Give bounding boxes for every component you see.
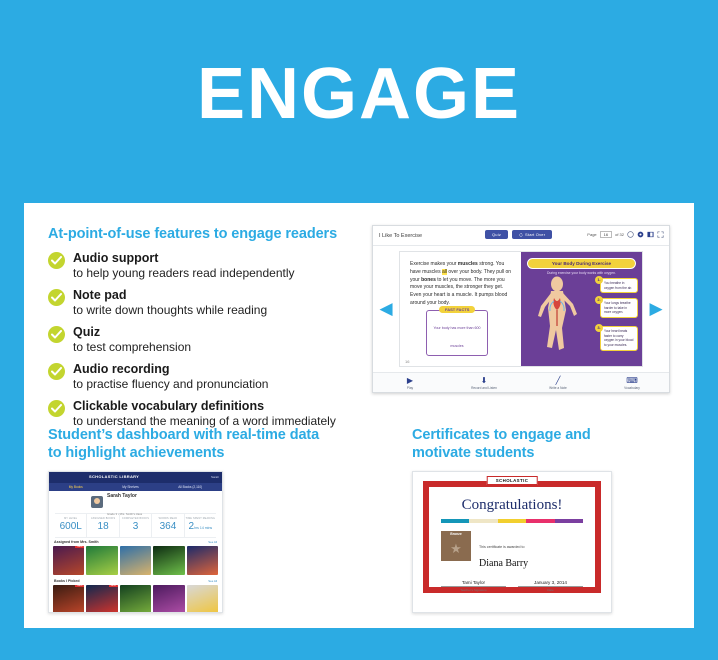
callout-text: Your heart beats faster to carry oxygen … xyxy=(604,329,633,347)
shelf-title: Books I Picked xyxy=(54,579,208,583)
book-row: NEW xyxy=(49,546,222,577)
shelf-header: Books I PickedSee All xyxy=(49,577,222,585)
hero-banner: ENGAGE xyxy=(0,58,718,130)
feature-title: Quiz xyxy=(73,324,191,340)
book-cover[interactable]: NEW xyxy=(53,546,84,575)
color-bar xyxy=(469,519,497,523)
play-icon: ▶ xyxy=(373,376,447,385)
book-cover[interactable] xyxy=(86,546,117,575)
ereader-screenshot[interactable]: I Like To Exercise Quiz Start Over Page … xyxy=(372,225,670,393)
shelf-header: Assigned from Mrs. SmithSee All xyxy=(49,538,222,546)
callout-text: You breathe in oxygen from the air. xyxy=(604,281,632,290)
features-section: At-point-of-use features to engage reade… xyxy=(48,225,388,434)
check-circle-icon xyxy=(48,363,65,380)
book-cover[interactable]: NEW xyxy=(53,585,84,613)
dashboard-heading: Student’s dashboard with real-time data … xyxy=(48,426,368,469)
stat-cell: WORDS READ364 xyxy=(152,514,184,537)
stat-value: 364 xyxy=(152,520,183,535)
bronze-badge: Bronze ★ xyxy=(441,531,471,561)
book-paragraph: Exercise makes your muscles strong. You … xyxy=(410,261,513,308)
book-row: NEWNEW xyxy=(49,585,222,613)
dashboard-navbar: SCHOLASTIC LIBRARY Sarah xyxy=(49,472,222,483)
fast-facts-text: Your body has more than 600 muscles xyxy=(433,326,480,348)
content-card: At-point-of-use features to engage reade… xyxy=(24,203,694,628)
play-tool[interactable]: ▶Play xyxy=(373,376,447,390)
callout-text: Your lungs breathe harder to take in mor… xyxy=(604,301,631,314)
feature-title: Note pad xyxy=(73,287,267,303)
pencil-tool[interactable]: ╱Write a Note xyxy=(521,376,595,390)
dashboard-tab[interactable]: My Books xyxy=(69,485,83,489)
ereader-spread: ◀ Exercise makes your muscles strong. Yo… xyxy=(373,246,669,372)
diagram-callout: 3. Your heart beats faster to carry oxyg… xyxy=(600,326,638,351)
start-over-button[interactable]: Start Over xyxy=(512,230,552,239)
signature-row: Tami Taylor Teacher’s Signature January … xyxy=(441,580,583,592)
book-cover[interactable] xyxy=(120,585,151,613)
refresh-icon xyxy=(519,233,523,237)
certificate-body: Bronze ★ This certificate is awarded to … xyxy=(441,531,583,571)
features-heading: At-point-of-use features to engage reade… xyxy=(48,225,388,243)
diagram-callout: 1. You breathe in oxygen from the air. xyxy=(600,278,638,293)
scholastic-logo: SCHOLASTIC LIBRARY xyxy=(89,474,139,479)
microphone-icon: ⬇ xyxy=(447,376,521,385)
feature-subtitle: to help young readers read independently xyxy=(73,266,295,282)
diagram-title: Your Body During Exercise xyxy=(527,258,636,269)
microphone-tool[interactable]: ⬇Record and Listen xyxy=(447,376,521,390)
certificate-heading-line1: Certificates to engage and xyxy=(412,427,591,443)
quiz-button[interactable]: Quiz xyxy=(485,230,508,239)
check-circle-icon xyxy=(48,252,65,269)
two-page-view-icon[interactable] xyxy=(647,231,654,238)
stat-value: 18 xyxy=(87,520,118,535)
ereader-book-title: I Like To Exercise xyxy=(379,233,422,239)
color-bar xyxy=(441,519,469,523)
check-circle-icon xyxy=(48,326,65,343)
feature-title: Clickable vocabulary definitions xyxy=(73,398,336,414)
stat-cell: MY LEVEL600L xyxy=(55,514,87,537)
certificate-frame: SCHOLASTIC Congratulations! Bronze ★ Thi… xyxy=(423,481,601,593)
settings-gear-icon[interactable] xyxy=(637,231,644,238)
tool-label: Play xyxy=(373,386,447,390)
page-title: ENGAGE xyxy=(0,58,718,130)
fullscreen-icon[interactable] xyxy=(657,231,664,238)
stat-value: 3 xyxy=(120,520,151,535)
diagram-callout: 2. Your lungs breathe harder to take in … xyxy=(600,298,638,318)
book-cover[interactable] xyxy=(187,546,218,575)
new-ribbon: NEW xyxy=(75,546,84,548)
date-caption: Date xyxy=(518,588,583,592)
ereader-page-controls: Page 16 of 32 xyxy=(587,231,664,238)
dashboard-heading-line1: Student’s dashboard with real-time data xyxy=(48,427,319,443)
book-page-number: 16 xyxy=(405,359,409,364)
contents-icon[interactable] xyxy=(627,231,634,238)
ereader-toolbar: I Like To Exercise Quiz Start Over Page … xyxy=(373,226,669,246)
feature-item: Audio supportto help young readers read … xyxy=(48,250,388,282)
diagram-subtitle: During exercise your body works with oxy… xyxy=(527,271,636,275)
feature-item: Quizto test comprehension xyxy=(48,324,388,356)
see-all-link[interactable]: See All xyxy=(208,540,217,544)
dashboard-heading-line2: to highlight achievements xyxy=(48,445,224,461)
pencil-icon: ╱ xyxy=(521,376,595,385)
stat-cell: ASSIGNED BOOKS18 xyxy=(87,514,119,537)
callout-number: 3. xyxy=(595,324,603,332)
book-cover[interactable] xyxy=(120,546,151,575)
certificate-heading: Certificates to engage and motivate stud… xyxy=(412,426,692,469)
star-icon: ★ xyxy=(450,541,462,557)
book-cover[interactable] xyxy=(187,585,218,613)
prev-page-arrow[interactable]: ◀ xyxy=(373,246,399,372)
badge-label: Bronze xyxy=(441,532,471,536)
engage-slide: ENGAGE At-point-of-use features to engag… xyxy=(0,0,718,660)
stat-cell: TIME SPENT READING2hrs 14 mins xyxy=(185,514,216,537)
vocabulary-tool[interactable]: ⌨Vocabulary xyxy=(595,376,669,390)
callout-number: 1. xyxy=(595,276,603,284)
shelf-title: Assigned from Mrs. Smith xyxy=(54,540,208,544)
ereader-bottom-toolbar: ▶Play⬇Record and Listen╱Write a Note⌨Voc… xyxy=(373,372,669,392)
avatar xyxy=(91,496,103,508)
teacher-name: Tami Taylor xyxy=(441,580,506,587)
scholastic-brand: SCHOLASTIC xyxy=(487,476,538,485)
feature-item: Note padto write down thoughts while rea… xyxy=(48,287,388,319)
feature-item: Audio recordingto practise fluency and p… xyxy=(48,361,388,393)
vocabulary-icon: ⌨ xyxy=(595,376,669,385)
stats-row: MY LEVEL600LASSIGNED BOOKS18COMPLETED BO… xyxy=(55,513,216,538)
book-text-page: Exercise makes your muscles strong. You … xyxy=(400,252,521,366)
human-body-illustration xyxy=(535,276,581,354)
tool-label: Vocabulary xyxy=(595,386,669,390)
stat-unit: hrs 14 mins xyxy=(194,526,212,530)
recipient-name: Diana Barry xyxy=(479,558,528,569)
start-over-label: Start Over xyxy=(525,232,545,237)
shelves: Assigned from Mrs. SmithSee AllNEWBooks … xyxy=(49,538,222,613)
see-all-link[interactable]: See All xyxy=(208,579,217,583)
page-total: of 32 xyxy=(615,232,624,237)
book-cover[interactable]: NEW xyxy=(86,585,117,613)
book-image-page: Your Body During Exercise During exercis… xyxy=(521,252,642,366)
color-bar xyxy=(555,519,583,523)
feature-subtitle: to test comprehension xyxy=(73,340,191,356)
awarded-text: This certificate is awarded to xyxy=(479,545,525,549)
fast-facts-badge: FAST FACTS xyxy=(439,306,475,313)
account-menu[interactable]: Sarah xyxy=(211,475,219,479)
new-ribbon: NEW xyxy=(75,585,84,587)
certificate-screenshot[interactable]: SCHOLASTIC Congratulations! Bronze ★ Thi… xyxy=(412,471,612,613)
tool-label: Record and Listen xyxy=(447,386,521,390)
check-circle-icon xyxy=(48,289,65,306)
color-bar xyxy=(498,519,526,523)
stat-value: 2hrs 14 mins xyxy=(185,520,216,535)
color-bar xyxy=(526,519,554,523)
ereader-action-buttons: Quiz Start Over xyxy=(485,230,552,239)
certificate-date: January 3, 2014 xyxy=(518,580,583,587)
book-cover[interactable] xyxy=(153,585,184,613)
feature-item: Clickable vocabulary definitionsto under… xyxy=(48,398,388,430)
check-circle-icon xyxy=(48,400,65,417)
feature-title: Audio recording xyxy=(73,361,268,377)
page-label: Page xyxy=(587,232,596,237)
stat-cell: COMPLETED BOOKS3 xyxy=(120,514,152,537)
new-ribbon: NEW xyxy=(109,585,118,587)
features-list: Audio supportto help young readers read … xyxy=(48,250,388,429)
tool-label: Write a Note xyxy=(521,386,595,390)
color-bars xyxy=(441,519,583,523)
book-spread: Exercise makes your muscles strong. You … xyxy=(399,251,643,367)
feature-subtitle: to practise fluency and pronunciation xyxy=(73,377,268,393)
congratulations-text: Congratulations! xyxy=(429,497,595,514)
dashboard-screenshot[interactable]: SCHOLASTIC LIBRARY Sarah My BooksMy Shel… xyxy=(48,471,223,613)
next-page-arrow[interactable]: ▶ xyxy=(643,246,669,372)
fast-facts-box: FAST FACTS Your body has more than 600 m… xyxy=(426,310,488,356)
dashboard-tab[interactable]: All Books (2,110) xyxy=(178,485,202,489)
student-name: Sarah Taylor xyxy=(107,493,137,499)
feature-title: Audio support xyxy=(73,250,295,266)
page-input[interactable]: 16 xyxy=(600,231,612,238)
teacher-caption: Teacher’s Signature xyxy=(441,588,506,592)
book-cover[interactable] xyxy=(153,546,184,575)
feature-subtitle: to write down thoughts while reading xyxy=(73,303,267,319)
callout-number: 2. xyxy=(595,296,603,304)
stat-value: 600L xyxy=(55,520,86,535)
student-profile: Sarah Taylor Grade 3 • Mrs. Smith’s clas… xyxy=(49,491,222,513)
certificate-heading-line2: motivate students xyxy=(412,445,534,461)
